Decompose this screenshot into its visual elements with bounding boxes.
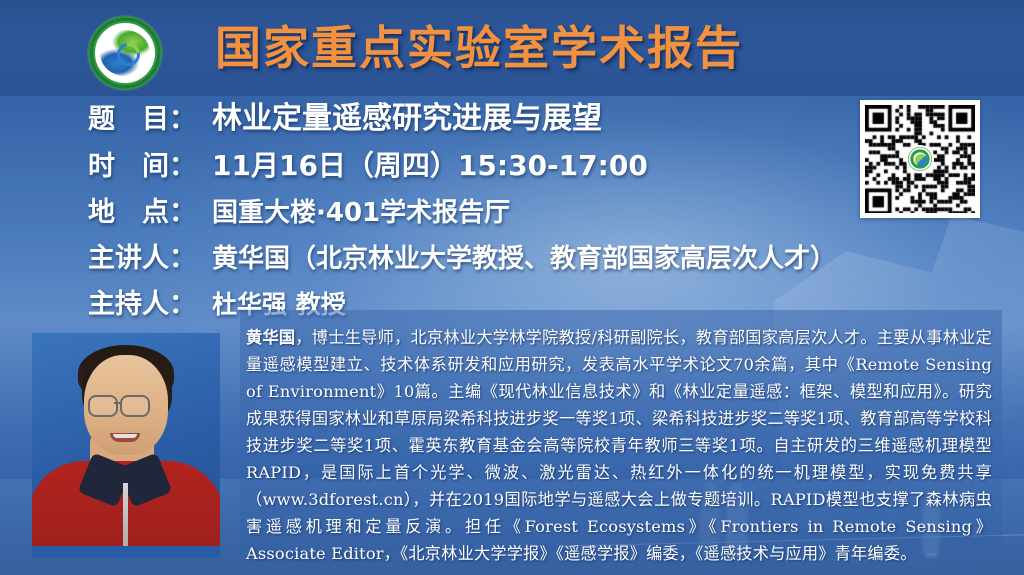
qr-code-cells: [865, 105, 975, 213]
speaker-portrait: [32, 333, 220, 558]
qr-code-icon[interactable]: [860, 100, 980, 218]
info-value-speaker: 黄华国（北京林业大学教授、教育部国家高层次人才）: [212, 240, 836, 278]
info-row-place: 地 点： 国重大楼·401学术报告厅: [88, 194, 868, 232]
info-row-title: 题 目： 林业定量遥感研究进展与展望: [88, 100, 868, 139]
lecture-info: 题 目： 林业定量遥感研究进展与展望 时 间： 11月16日（周四）15:30-…: [88, 100, 868, 332]
speaker-biography: 黄华国，博士生导师，北京林业大学林学院教授/科研副院长，教育部国家高层次人才。主…: [240, 310, 1002, 553]
info-row-time: 时 间： 11月16日（周四）15:30-17:00: [88, 147, 868, 186]
info-row-speaker: 主讲人： 黄华国（北京林业大学教授、教育部国家高层次人才）: [88, 240, 868, 278]
info-label-time: 时 间：: [88, 148, 212, 186]
page-title: 国家重点实验室学术报告: [215, 14, 915, 84]
poster-header: 国家重点实验室学术报告: [0, 0, 1024, 96]
info-label-title: 题 目：: [88, 101, 212, 139]
info-label-host: 主持人：: [88, 286, 212, 324]
lab-emblem-icon: [88, 16, 162, 90]
info-value-title: 林业定量遥感研究进展与展望: [212, 100, 602, 138]
biography-name: 黄华国: [246, 328, 295, 347]
info-label-speaker: 主讲人：: [88, 240, 212, 278]
info-label-place: 地 点：: [88, 194, 212, 232]
biography-text: ，博士生导师，北京林业大学林学院教授/科研副院长，教育部国家高层次人才。主要从事…: [246, 328, 992, 563]
lecture-poster: 国家重点实验室学术报告 题 目： 林业定量遥感研究进展与展望 时 间： 11月1…: [0, 0, 1024, 575]
info-value-place: 国重大楼·401学术报告厅: [212, 194, 510, 232]
qr-center-emblem-icon: [906, 145, 934, 173]
biography-paragraph: 黄华国，博士生导师，北京林业大学林学院教授/科研副院长，教育部国家高层次人才。主…: [246, 324, 992, 567]
info-value-time: 11月16日（周四）15:30-17:00: [212, 147, 648, 185]
